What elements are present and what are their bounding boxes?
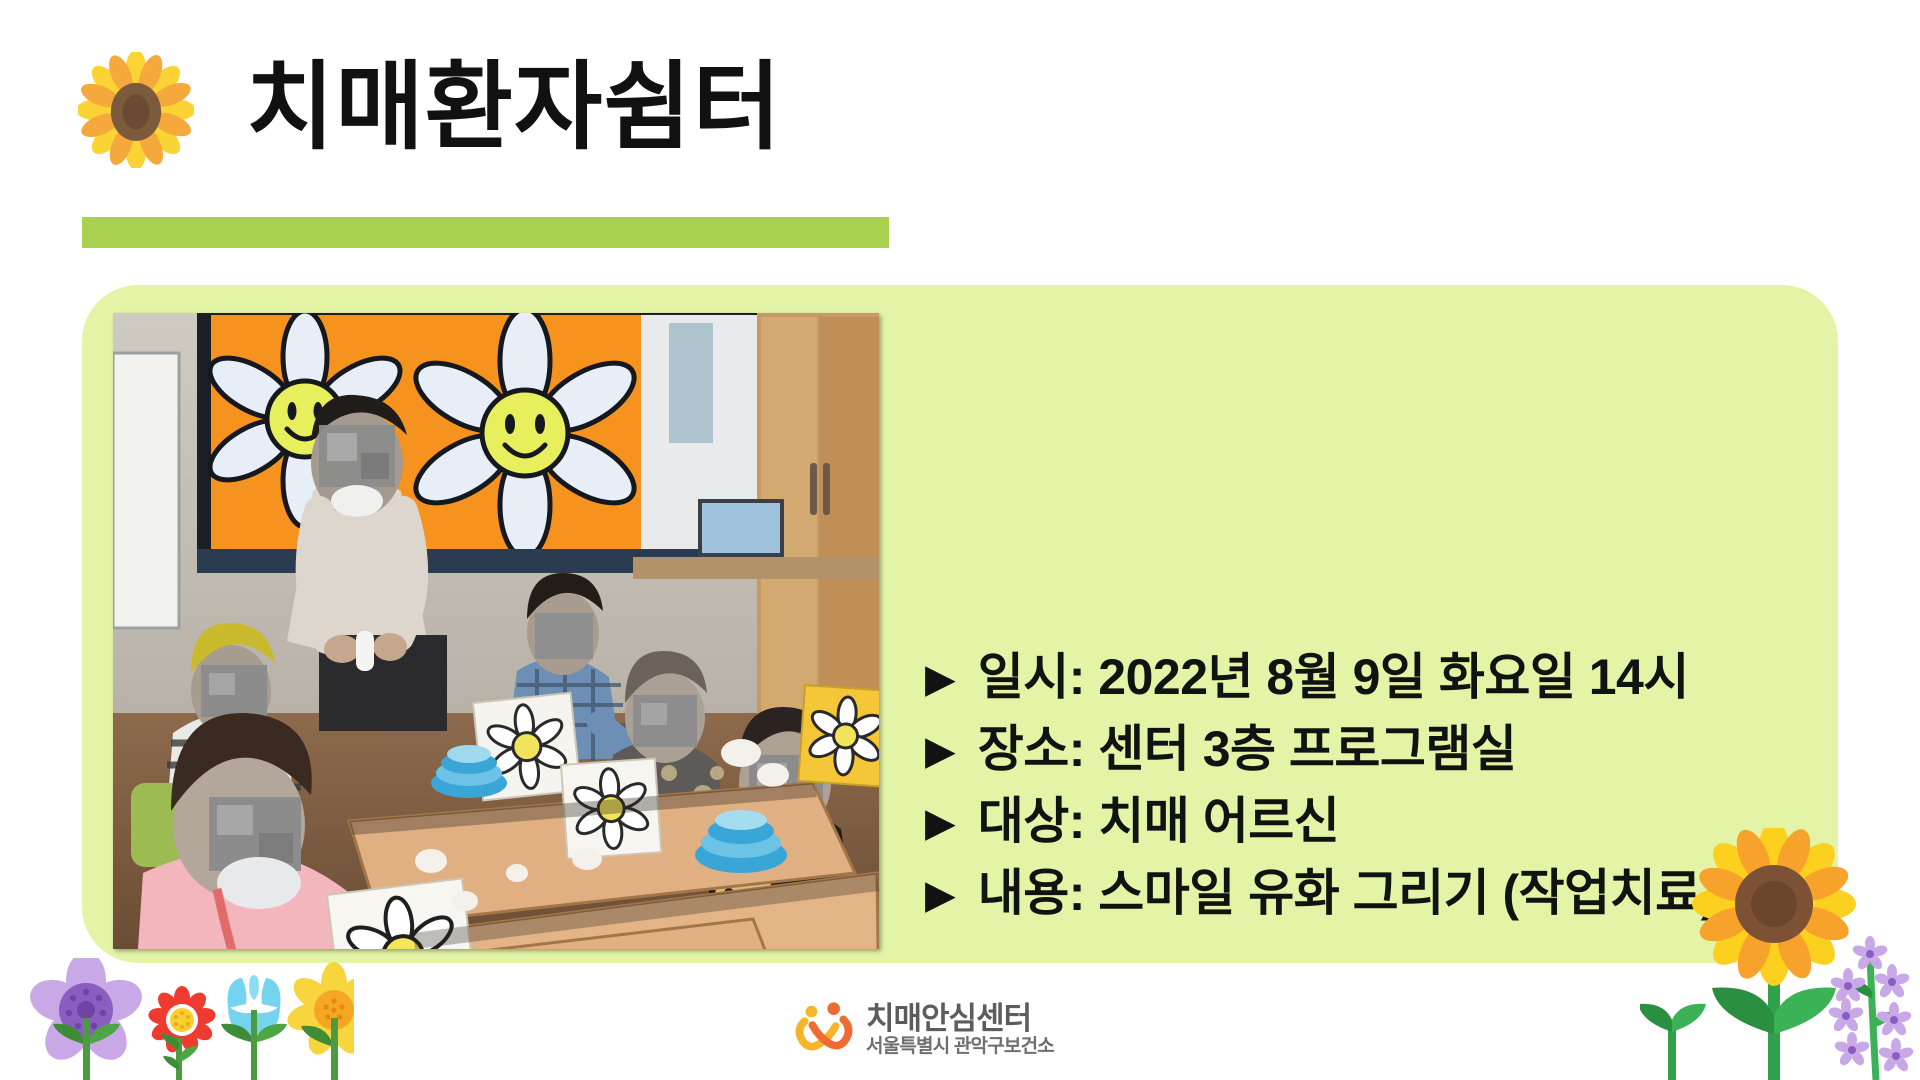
center-logo-subtitle: 서울특별시 관악구보건소 <box>866 1037 1054 1056</box>
title-underline-bar <box>82 217 889 248</box>
detail-text-audience: 대상: 치매 어르신 <box>978 792 1339 851</box>
sunflower-icon <box>78 52 194 168</box>
detail-row-datetime: ▶ 일시: 2022년 8월 9일 화요일 14시 <box>925 648 1825 707</box>
page-title: 치매환자쉼터 <box>246 50 782 165</box>
detail-text-content: 내용: 스마일 유화 그리기 (작업치료) <box>978 864 1717 923</box>
decoration-flowers-right <box>1640 828 1920 1080</box>
center-logo-title: 치매안심센터 <box>866 1003 1054 1034</box>
sunflower <box>1692 828 1856 1080</box>
center-logo-icon <box>795 1000 853 1058</box>
decoration-flowers-left <box>24 958 354 1080</box>
triangle-bullet-icon: ▶ <box>925 659 956 699</box>
yellow-flower <box>284 962 354 1059</box>
triangle-bullet-icon: ▶ <box>925 875 956 915</box>
center-logo-text: 치매안심센터 서울특별시 관악구보건소 <box>866 1003 1054 1056</box>
triangle-bullet-icon: ▶ <box>925 803 956 843</box>
purple-bellflower-stalk <box>1827 936 1914 1080</box>
triangle-bullet-icon: ▶ <box>925 731 956 771</box>
slide-root: 치매환자쉼터 <box>0 0 1920 1080</box>
activity-photo <box>113 313 879 949</box>
detail-text-location: 장소: 센터 3층 프로그램실 <box>978 720 1517 779</box>
detail-row-location: ▶ 장소: 센터 3층 프로그램실 <box>925 720 1825 779</box>
detail-text-datetime: 일시: 2022년 8월 9일 화요일 14시 <box>978 648 1689 707</box>
center-logo: 치매안심센터 서울특별시 관악구보건소 <box>795 1000 1054 1058</box>
green-sprout <box>1640 1004 1706 1080</box>
